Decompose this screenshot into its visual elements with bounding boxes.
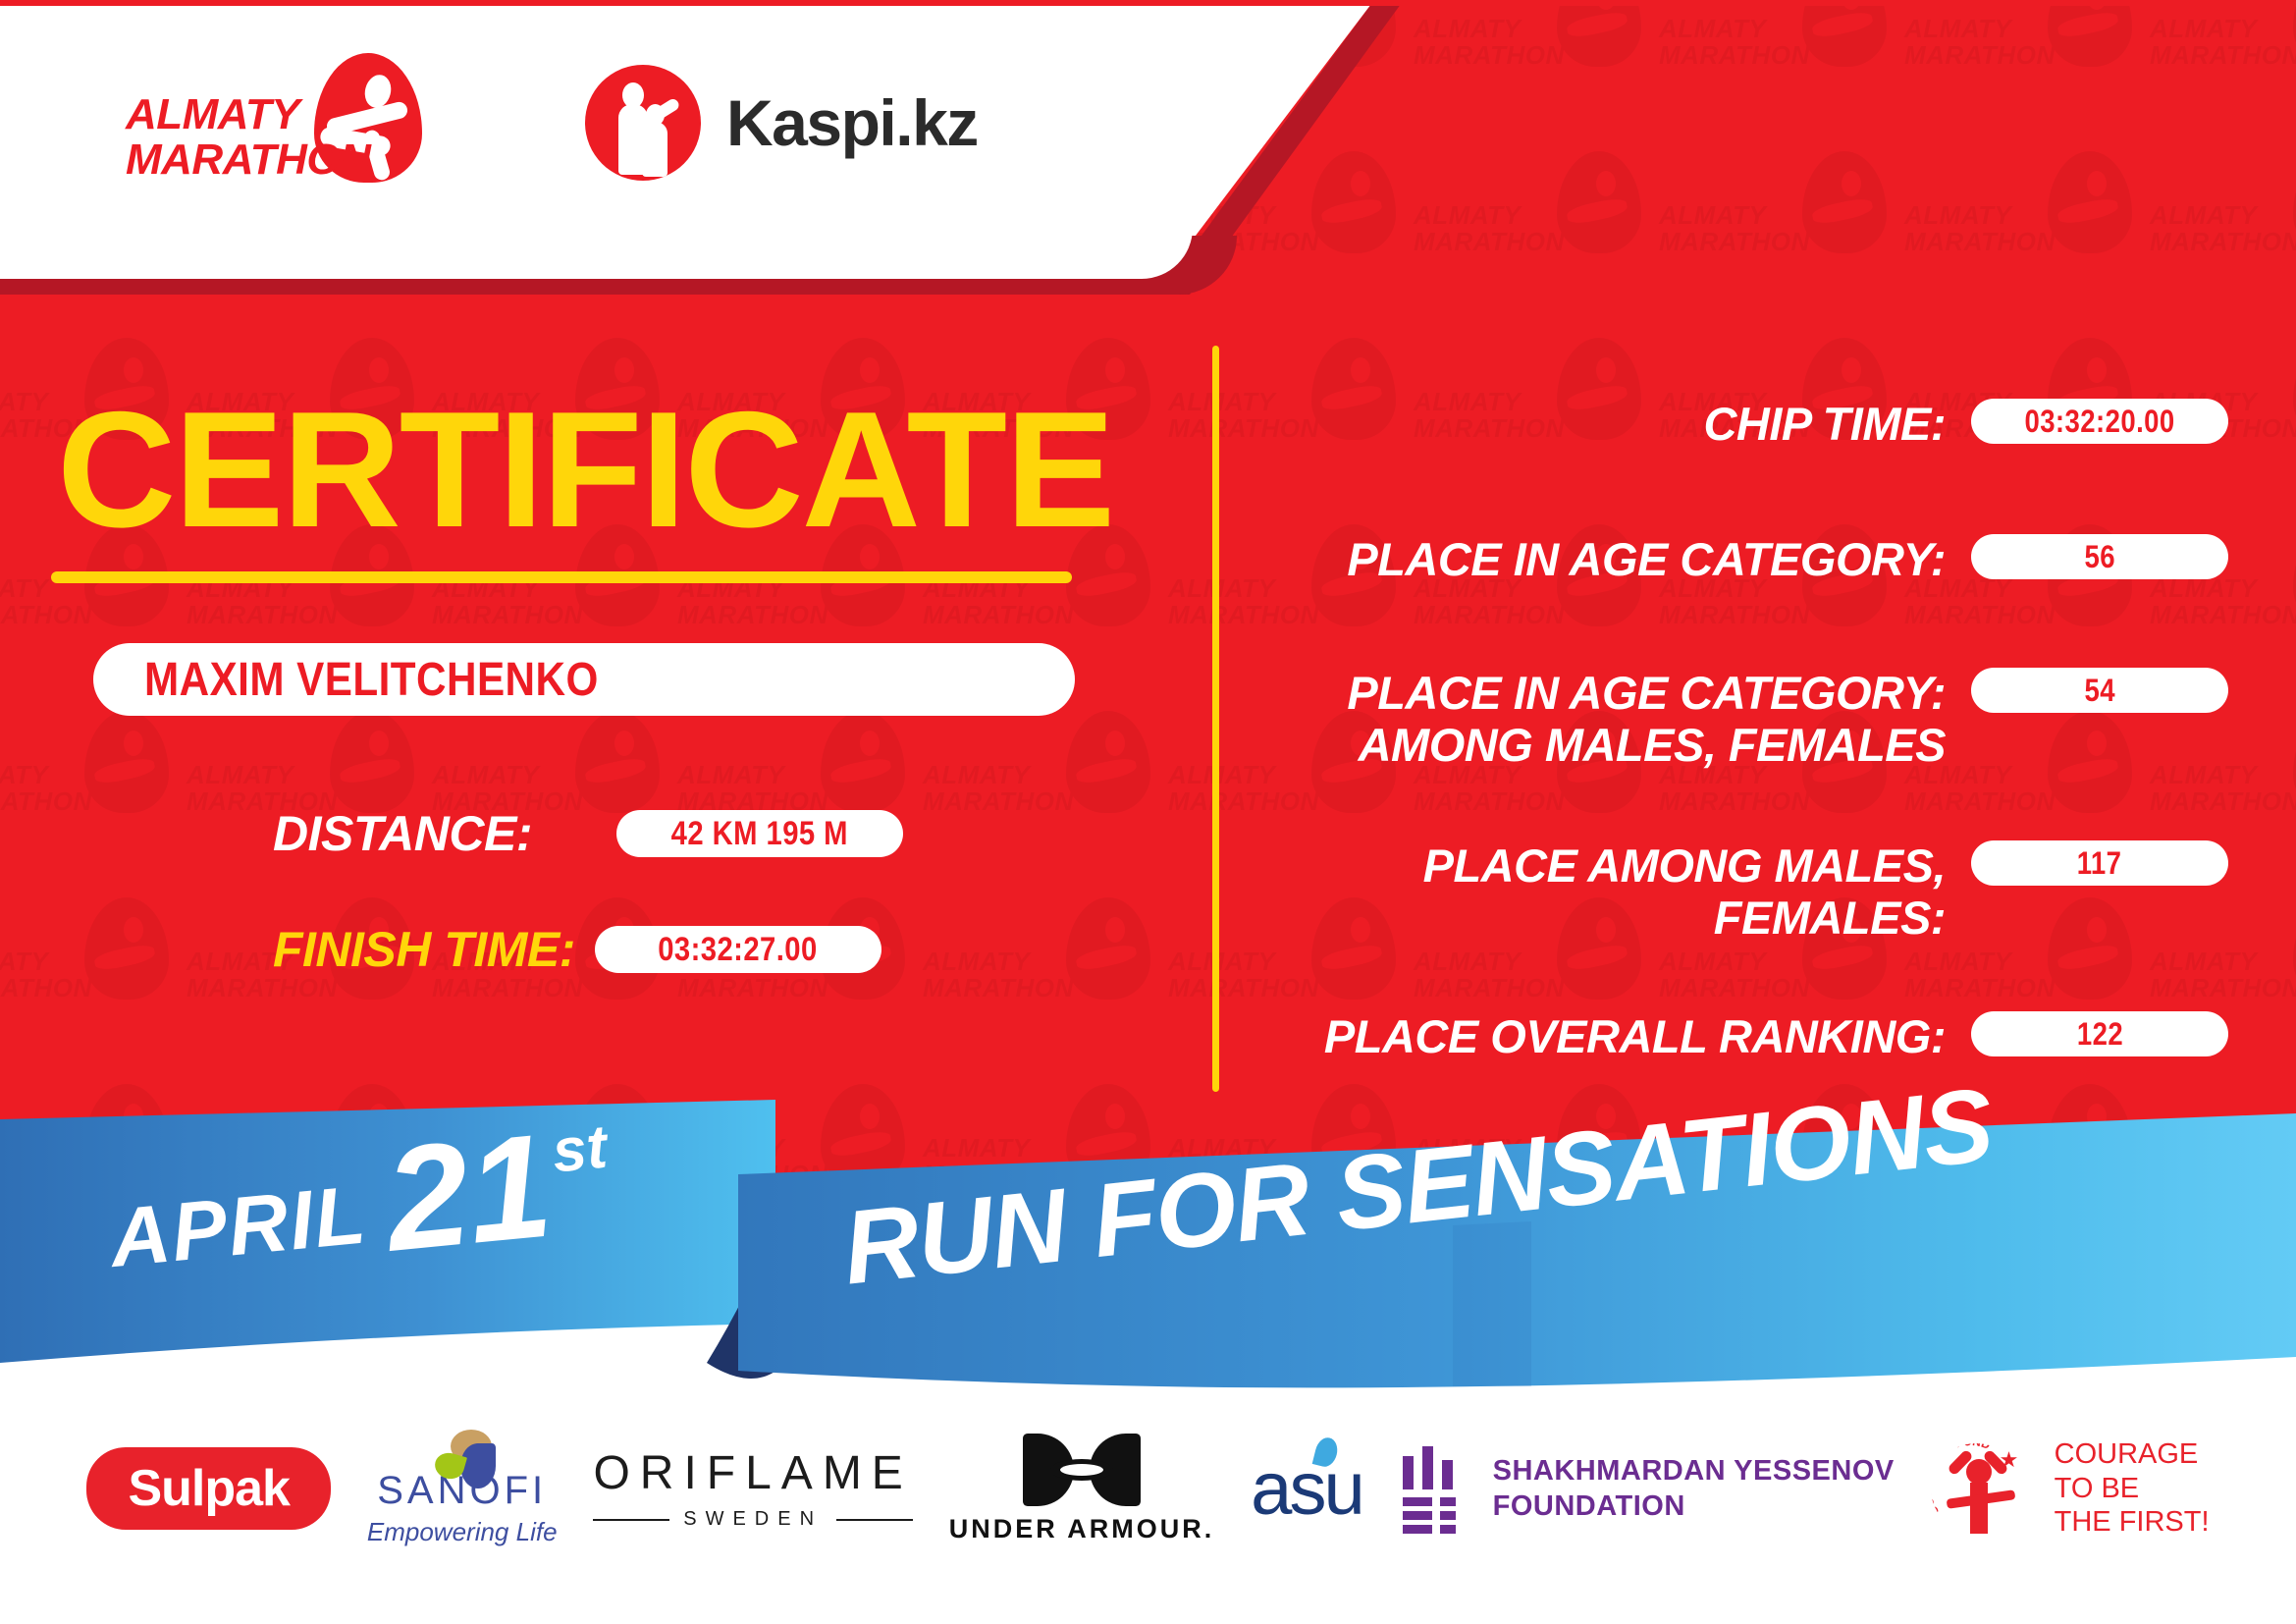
asu-wordmark: asu — [1251, 1446, 1362, 1532]
event-ribbon: APRIL 21 st RUN FOR SENSATIONS — [0, 1100, 2296, 1443]
stat-label-line1: PLACE OVERALL RANKING: — [1286, 1011, 1946, 1063]
stat-value-pill: 117 — [1971, 840, 2228, 886]
stat-value: 122 — [2076, 1016, 2122, 1053]
finish-time-value: 03:32:27.00 — [659, 931, 818, 969]
stat-row: PLACE IN AGE CATEGORY: AMONG MALES, FEMA… — [1286, 668, 2228, 771]
almaty-line1: ALMATY — [126, 92, 370, 137]
runner-name-value: MAXIM VELITCHENKO — [144, 653, 599, 707]
stats-column: CHIP TIME: 03:32:20.00 PLACE IN AGE CATE… — [1286, 285, 2228, 1149]
almaty-line2: MARATHON — [126, 137, 370, 183]
almaty-marathon-wordmark: ALMATY MARATHON — [126, 92, 370, 183]
header: ALMATY MARATHON Kaspi.kz — [0, 0, 2296, 285]
finish-time-row: FINISH TIME: 03:32:27.00 — [273, 921, 881, 978]
under-armour-mark-icon — [1023, 1434, 1141, 1506]
sponsor-logo-sanofi: SANOFI Empowering Life — [367, 1430, 558, 1547]
oriflame-rule-left — [593, 1519, 669, 1521]
stat-value-pill: 03:32:20.00 — [1971, 399, 2228, 444]
oriflame-sub-label: SWEDEN — [669, 1508, 836, 1531]
oriflame-wordmark: ORIFLAME — [593, 1446, 912, 1500]
sponsor-logo-under-armour: UNDER ARMOUR. — [949, 1430, 1215, 1547]
left-column: CERTIFICATE MAXIM VELITCHENKO DISTANCE: … — [0, 285, 1212, 1149]
courage-line3: THE FIRST! — [2055, 1505, 2210, 1540]
sulpak-wordmark: Sulpak — [128, 1460, 290, 1517]
distance-row: DISTANCE: 42 KM 195 M — [273, 805, 903, 862]
sponsor-logo-oriflame: ORIFLAME SWEDEN — [593, 1430, 912, 1547]
finish-time-value-pill: 03:32:27.00 — [595, 926, 881, 973]
sponsor-logo-yessenov: SHAKHMARDAN YESSENOV FOUNDATION — [1399, 1430, 1895, 1547]
sponsor-row: Sulpak SANOFI Empowering Life ORIFLAME S… — [0, 1430, 2296, 1547]
vertical-divider — [1212, 346, 1219, 1092]
courage-figure-icon: CORPORATE FUND ★ — [1931, 1437, 2039, 1540]
event-day-suffix: st — [550, 1112, 611, 1187]
title-divider — [51, 571, 1072, 583]
runner-name-field: MAXIM VELITCHENKO — [93, 643, 1075, 716]
kaspi-people-circle-icon — [585, 65, 701, 181]
stat-label-line1: PLACE AMONG MALES, — [1286, 840, 1946, 893]
stat-value-pill: 122 — [1971, 1011, 2228, 1056]
stat-label-line2: AMONG MALES, FEMALES — [1286, 720, 1946, 772]
stat-row: CHIP TIME: 03:32:20.00 — [1286, 399, 2228, 451]
sponsor-logo-asu: asu — [1251, 1430, 1362, 1547]
stat-row: PLACE IN AGE CATEGORY: 56 — [1286, 534, 2228, 586]
yessenov-line1: SHAKHMARDAN YESSENOV — [1493, 1453, 1895, 1489]
event-day: 21 — [380, 1116, 556, 1267]
distance-value-pill: 42 KM 195 M — [616, 810, 903, 857]
oriflame-rule-right — [836, 1519, 913, 1521]
certificate-page: ALMATYMARATHONALMATYMARATHONALMATYMARATH… — [0, 0, 2296, 1624]
stat-label-line1: PLACE IN AGE CATEGORY: — [1286, 534, 1946, 586]
sanofi-tagline: Empowering Life — [367, 1517, 558, 1547]
stat-value-pill: 56 — [1971, 534, 2228, 579]
stat-value: 03:32:20.00 — [2024, 404, 2174, 440]
distance-value: 42 KM 195 M — [671, 815, 848, 853]
stat-row: PLACE AMONG MALES, FEMALES: 117 — [1286, 840, 2228, 944]
yessenov-mark-icon — [1399, 1446, 1471, 1531]
stat-label-line1: PLACE IN AGE CATEGORY: — [1286, 668, 1946, 720]
stat-value: 56 — [2084, 539, 2114, 575]
yessenov-line2: FOUNDATION — [1493, 1489, 1895, 1524]
sponsor-logo-courage-fund: CORPORATE FUND ★ COURAGE TO BE THE FIRST… — [1931, 1430, 2210, 1547]
header-logos: ALMATY MARATHON Kaspi.kz — [0, 0, 1178, 245]
kaspi-wordmark: Kaspi.kz — [726, 85, 978, 160]
stat-row: PLACE OVERALL RANKING: 122 — [1286, 1011, 2228, 1063]
distance-label: DISTANCE: — [273, 805, 532, 862]
kaspi-logo: Kaspi.kz — [585, 65, 978, 181]
stat-value: 117 — [2077, 845, 2122, 882]
stat-value-pill: 54 — [1971, 668, 2228, 713]
stat-label-line2: FEMALES: — [1286, 893, 1946, 945]
stat-label-line1: CHIP TIME: — [1286, 399, 1946, 451]
stat-value: 54 — [2084, 673, 2114, 709]
almaty-marathon-logo: ALMATY MARATHON — [126, 49, 440, 196]
finish-time-label: FINISH TIME: — [273, 921, 575, 978]
courage-line2: TO BE — [2055, 1472, 2210, 1506]
under-armour-wordmark: UNDER ARMOUR. — [949, 1514, 1215, 1544]
sponsor-logo-sulpak: Sulpak — [86, 1430, 331, 1547]
certificate-body: CERTIFICATE MAXIM VELITCHENKO DISTANCE: … — [0, 285, 2296, 1149]
page-title: CERTIFICATE — [57, 387, 1113, 552]
event-month: APRIL — [106, 1166, 371, 1286]
